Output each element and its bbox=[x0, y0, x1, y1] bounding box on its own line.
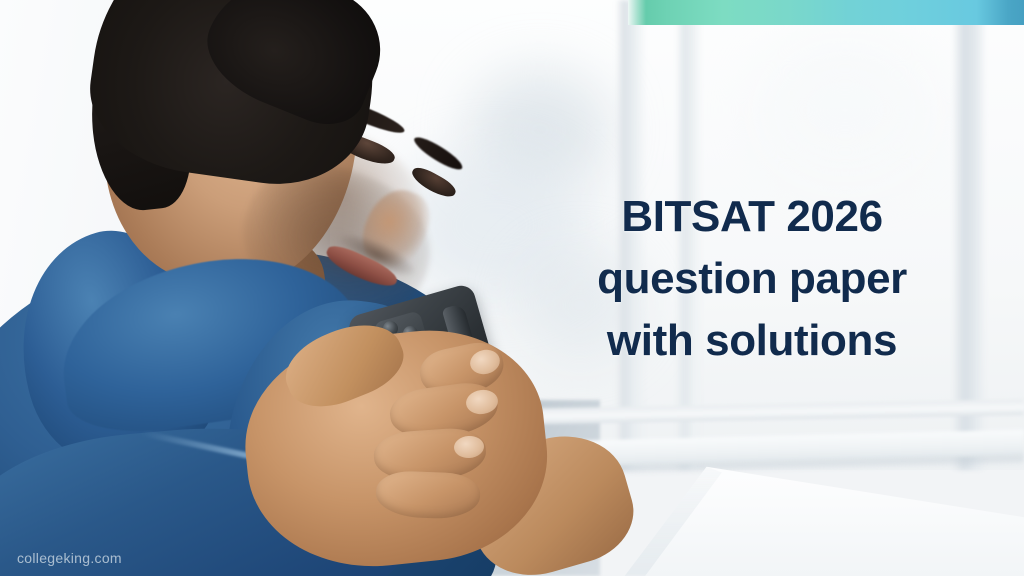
watermark: collegeking.com bbox=[17, 550, 122, 566]
teal-gradient-bar-fade bbox=[628, 0, 646, 25]
headline-line-1: BITSAT 2026 bbox=[540, 186, 964, 248]
headline-line-2: question paper bbox=[540, 248, 964, 310]
page-title: BITSAT 2026 question paper with solution… bbox=[540, 186, 964, 372]
headline-line-3: with solutions bbox=[540, 310, 964, 372]
banner: BITSAT 2026 question paper with solution… bbox=[0, 0, 1024, 576]
teal-gradient-bar bbox=[628, 0, 1024, 25]
